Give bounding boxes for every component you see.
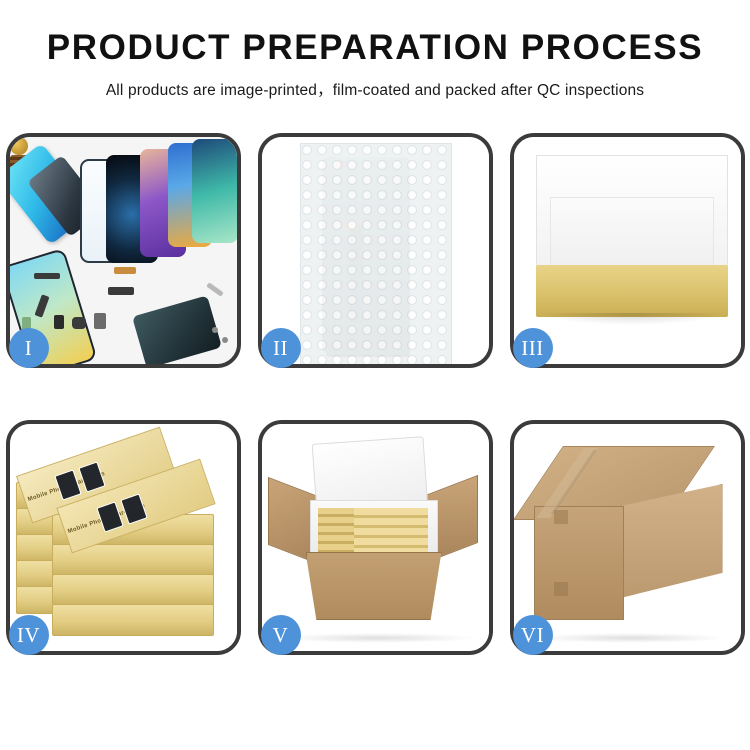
phone-screen-teal xyxy=(192,139,237,243)
screw-part xyxy=(222,337,228,343)
step-badge-2: II xyxy=(261,328,301,368)
vibrator-part xyxy=(94,313,106,329)
step-image-foam-inner-box xyxy=(514,137,741,364)
carton-front-face xyxy=(534,506,624,620)
tweezers-tool xyxy=(206,282,224,296)
screw-part xyxy=(212,327,218,333)
step-badge-1: I xyxy=(9,328,49,368)
stacked-box xyxy=(52,574,214,606)
process-steps-grid: I II III xyxy=(0,133,750,655)
drop-shadow xyxy=(532,633,728,643)
tape-tab xyxy=(554,510,568,524)
step-panel-stacked-boxes: Mobile Phone Spare Parts Mobile Phone Sp… xyxy=(6,420,241,655)
step-image-sealed-carton xyxy=(514,424,741,651)
gold-flex-part xyxy=(114,267,136,274)
step-image-stacked-boxes: Mobile Phone Spare Parts Mobile Phone Sp… xyxy=(10,424,237,651)
carton-body xyxy=(306,552,442,620)
page-title: PRODUCT PREPARATION PROCESS xyxy=(0,30,750,67)
drop-shadow xyxy=(540,313,724,325)
golden-boxes-inside xyxy=(354,508,428,556)
speaker-part-icon xyxy=(10,137,28,155)
camera-part xyxy=(54,315,64,329)
button-flex-part xyxy=(108,287,134,295)
tape-tab xyxy=(554,582,568,596)
bubble-wrap-film xyxy=(300,143,452,364)
drop-shadow xyxy=(280,633,476,643)
step-image-bubble-wrap xyxy=(262,137,489,364)
step-panel-sealed-carton: VI xyxy=(510,420,745,655)
flex-cable-part xyxy=(34,273,60,279)
step-image-carton-packing xyxy=(262,424,489,651)
earpiece-part xyxy=(72,317,86,329)
header: PRODUCT PREPARATION PROCESS All products… xyxy=(0,0,750,100)
product-preparation-infographic: PRODUCT PREPARATION PROCESS All products… xyxy=(0,0,750,750)
stacked-box xyxy=(52,604,214,636)
step-panel-product-range: I xyxy=(6,133,241,368)
step-image-product-range xyxy=(10,137,237,364)
phone-back-housing xyxy=(132,295,222,364)
step-panel-carton-packing: V xyxy=(258,420,493,655)
step-badge-3: III xyxy=(513,328,553,368)
step-badge-6: VI xyxy=(513,615,553,655)
step-panel-foam-inner-box: III xyxy=(510,133,745,368)
step-badge-5: V xyxy=(261,615,301,655)
step-panel-bubble-wrap: II xyxy=(258,133,493,368)
step-badge-4: IV xyxy=(9,615,49,655)
page-subtitle: All products are image-printed，film-coat… xyxy=(0,78,750,100)
golden-box-tray xyxy=(536,265,728,317)
